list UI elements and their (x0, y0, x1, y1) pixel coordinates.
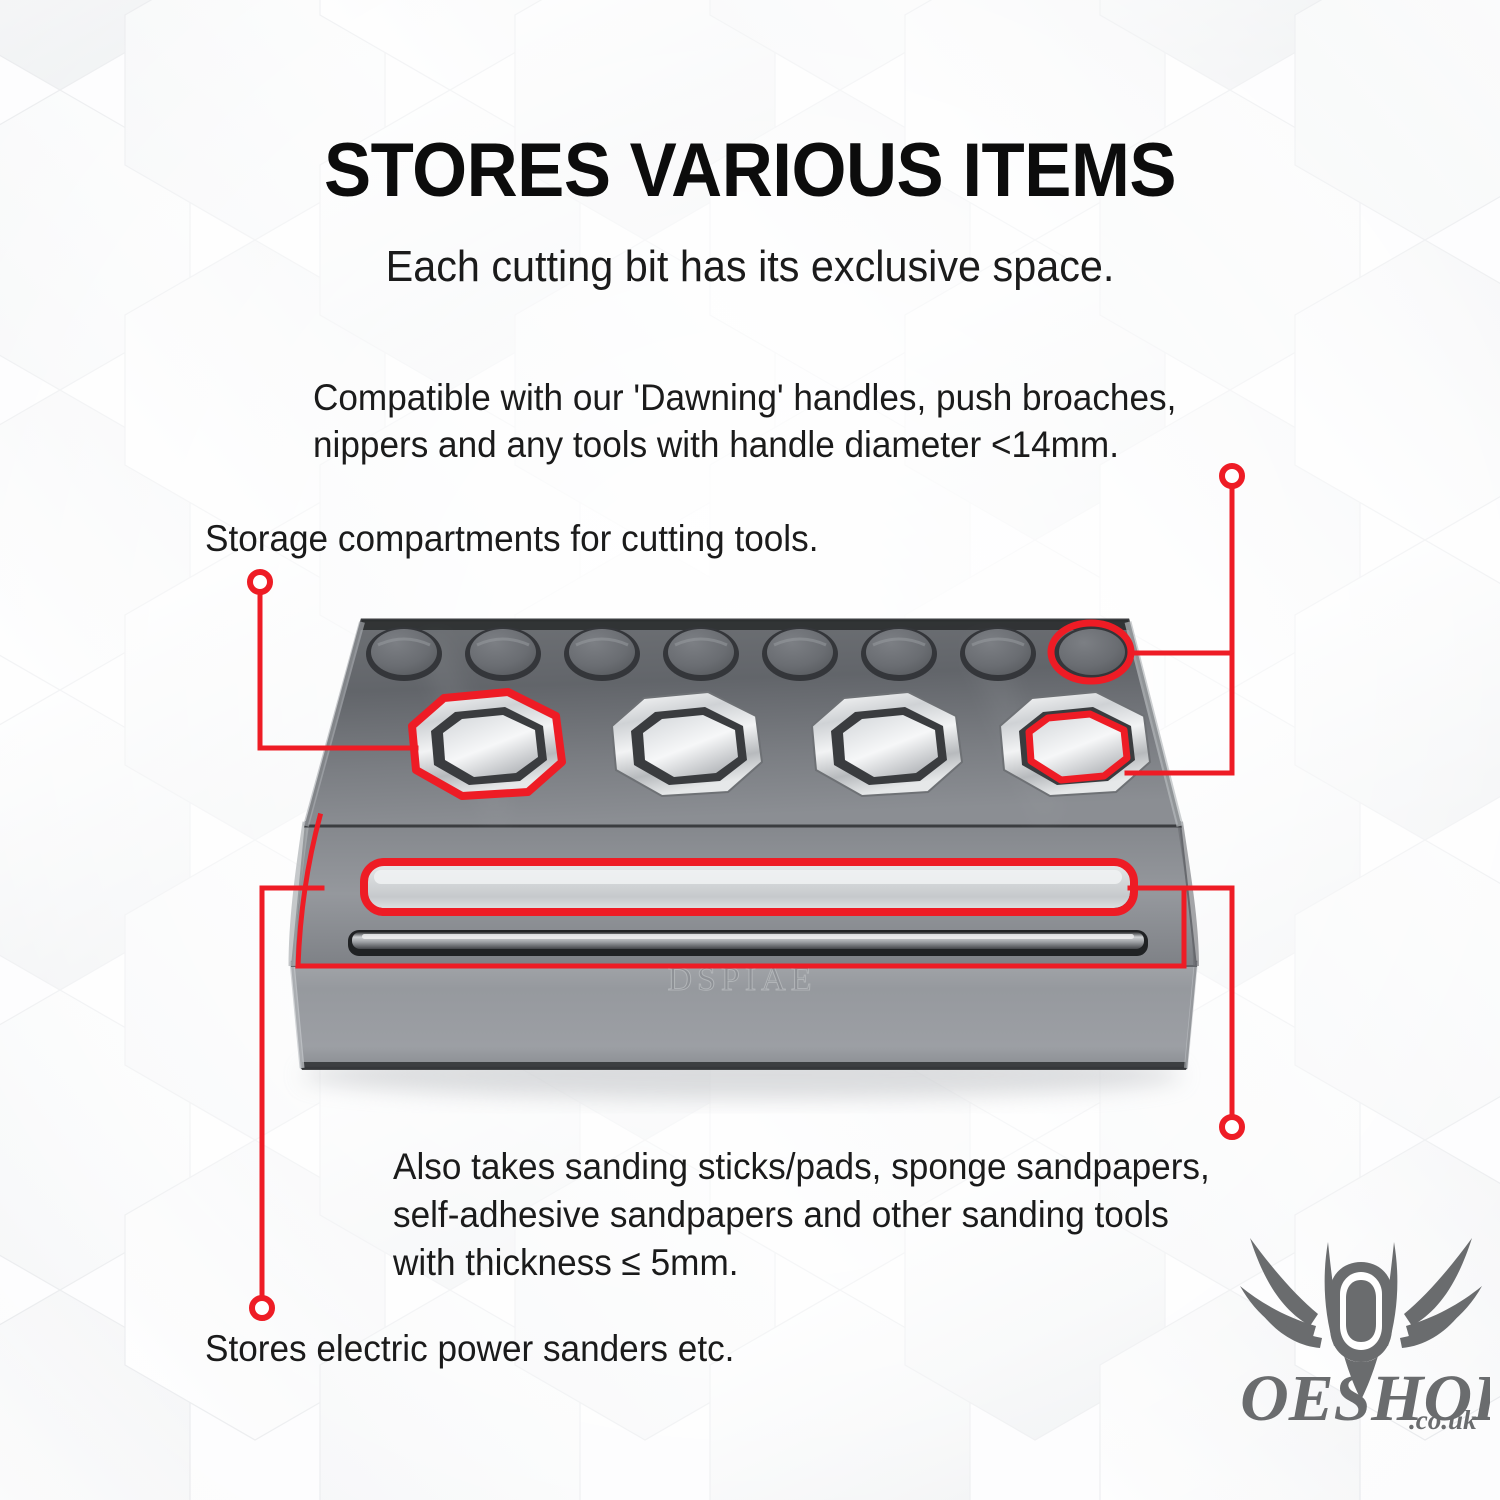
round-hole (762, 627, 838, 681)
callout-marker-compat (1222, 466, 1242, 486)
callout-marker-storage (250, 572, 270, 592)
octagon-socket (612, 692, 762, 796)
octagon-socket (812, 692, 962, 796)
sanding-slot (362, 864, 1134, 914)
callout-text-sanding: Also takes sanding sticks/pads, sponge s… (393, 1143, 1248, 1287)
callout-text-storage: Storage compartments for cutting tools. (205, 517, 984, 561)
round-hole (564, 627, 640, 681)
octagon-socket-inner-highlighted (1000, 692, 1150, 796)
callout-text-compatibility: Compatible with our 'Dawning' handles, p… (313, 374, 1273, 469)
round-hole-highlighted (1051, 623, 1131, 681)
round-hole (465, 627, 541, 681)
page-subtitle: Each cutting bit has its exclusive space… (45, 243, 1455, 291)
octagon-socket-highlighted (412, 692, 562, 796)
round-hole (663, 627, 739, 681)
callout-marker-sanding (1222, 1117, 1242, 1137)
page-title: STORES VARIOUS ITEMS (53, 133, 1448, 209)
oeshop-logo[interactable]: OESHOP .co.uk (1232, 1222, 1490, 1437)
logo-tld: .co.uk (1409, 1405, 1477, 1435)
round-hole (366, 627, 442, 681)
round-hole (861, 627, 937, 681)
infographic-canvas: DSPIAE (0, 0, 1500, 1500)
power-sander-trough (348, 930, 1148, 956)
callout-text-sanders: Stores electric power sanders etc. (205, 1327, 965, 1371)
round-hole (960, 627, 1036, 681)
callout-marker-sanders (252, 1298, 272, 1318)
